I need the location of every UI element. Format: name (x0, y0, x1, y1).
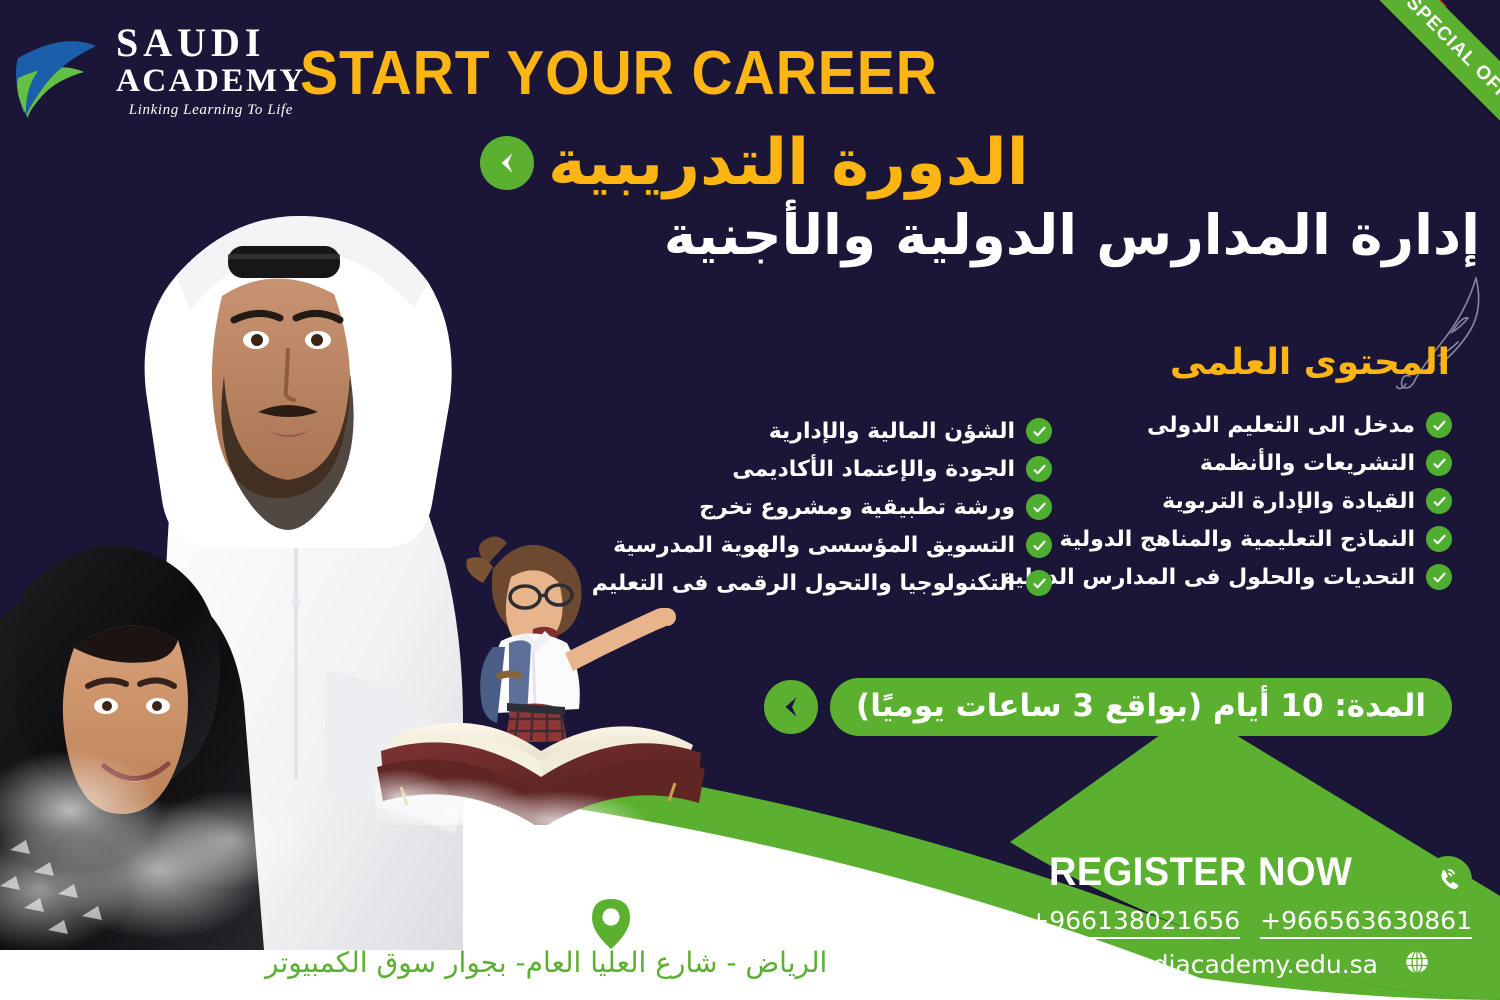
list-item-label: مدخل الى التعليم الدولى (1147, 413, 1415, 438)
check-icon (1026, 456, 1052, 482)
list-item-label: التشريعات والأنظمة (1200, 451, 1415, 476)
list-item-label: الشؤن المالية والإدارية (769, 419, 1015, 444)
check-icon (1426, 488, 1452, 514)
special-offer-ribbon: SPECIAL OFFER (1300, 0, 1500, 200)
check-icon (1026, 570, 1052, 596)
check-icon (1426, 412, 1452, 438)
list-item: الشؤن المالية والإدارية (592, 418, 1052, 444)
list-item-label: القيادة والإدارة التربوية (1162, 489, 1415, 514)
chevron-left-icon (764, 680, 818, 734)
globe-icon (1396, 941, 1438, 983)
list-item: التشريعات والأنظمة (1002, 450, 1452, 476)
list-item-label: التحديات والحلول فى المدارس الدولية (1002, 565, 1415, 590)
list-item: مدخل الى التعليم الدولى (1002, 412, 1452, 438)
list-item: التكنولوجيا والتحول الرقمى فى التعليم (592, 570, 1052, 596)
location-pin-icon (590, 898, 632, 950)
list-item: الجودة والإعتماد الأكاديمى (592, 456, 1052, 482)
duration-badge: المدة: 10 أيام (بواقع 3 ساعات يوميًا) (764, 678, 1452, 736)
logo-line-1: SAUDI (116, 23, 306, 63)
start-your-career-tagline: START YOUR CAREER (300, 38, 938, 109)
list-item-label: التسويق المؤسسى والهوية المدرسية (613, 533, 1015, 558)
course-subtitle: إدارة المدارس الدولية والأجنية (480, 204, 1480, 267)
phone-number-list: +966548651762 +966138021656 +96656363086… (797, 906, 1472, 939)
list-item-label: الجودة والإعتماد الأكاديمى (732, 457, 1015, 482)
promo-banner: SAUDI ACADEMY Linking Learning To Life S… (0, 0, 1500, 1000)
list-item-label: النماذج التعليمية والمناهج الدولية (1060, 527, 1416, 552)
check-icon (1426, 526, 1452, 552)
bullet-list-right: مدخل الى التعليم الدولى التشريعات والأنظ… (1002, 412, 1452, 590)
logo-tagline: Linking Learning To Life (116, 103, 306, 118)
course-title: الدورة التدريبية (548, 128, 1029, 198)
list-item: القيادة والإدارة التربوية (1002, 488, 1452, 514)
address-text: الرياض - شارع العليا العام- بجوار سوق ال… (265, 946, 827, 979)
saudi-academy-swoosh-icon (14, 22, 106, 118)
website-url[interactable]: www.saudiacademy.edu.sa (1041, 950, 1378, 979)
list-item-label: ورشة تطبيقية ومشروع تخرج (699, 495, 1015, 520)
bullet-list-left: الشؤن المالية والإدارية الجودة والإعتماد… (592, 418, 1052, 596)
ribbon-label: SPECIAL OFFER (1401, 0, 1500, 126)
phone-number[interactable]: +966548651762 (797, 906, 1009, 939)
phone-number[interactable]: +966138021656 (1028, 906, 1240, 939)
phone-number[interactable]: +966563630861 (1260, 906, 1472, 939)
logo-line-2: ACADEMY (116, 65, 306, 98)
list-item: النماذج التعليمية والمناهج الدولية (1002, 526, 1452, 552)
content-section-heading: المحتوى العلمى (1170, 342, 1450, 383)
check-icon (1026, 418, 1052, 444)
chevron-left-icon (480, 136, 534, 190)
list-item: التسويق المؤسسى والهوية المدرسية (592, 532, 1052, 558)
check-icon (1426, 564, 1452, 590)
check-icon (1026, 532, 1052, 558)
check-icon (1426, 450, 1452, 476)
phone-icon (1424, 856, 1472, 904)
brand-logo: SAUDI ACADEMY Linking Learning To Life (14, 22, 306, 118)
duration-label: المدة: 10 أيام (بواقع 3 ساعات يوميًا) (830, 678, 1452, 736)
list-item-label: التكنولوجيا والتحول الرقمى فى التعليم (592, 571, 1015, 596)
check-icon (1026, 494, 1052, 520)
list-item: ورشة تطبيقية ومشروع تخرج (592, 494, 1052, 520)
register-now-heading: REGISTER NOW (1049, 850, 1352, 895)
list-item: التحديات والحلول فى المدارس الدولية (1002, 564, 1452, 590)
ribbon-band: SPECIAL OFFER (1347, 0, 1500, 180)
